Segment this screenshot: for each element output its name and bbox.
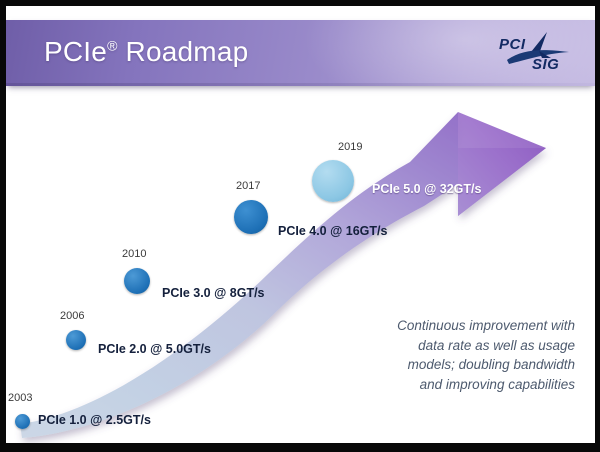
caption-line-2: data rate as well as usage: [330, 336, 575, 356]
milestone-label: PCIe 5.0 @ 32GT/s: [372, 182, 481, 196]
milestone-dot-icon: [15, 414, 30, 429]
page-title-main: PCIe: [44, 36, 107, 67]
milestone-label: PCIe 3.0 @ 8GT/s: [162, 286, 265, 300]
roadmap-caption: Continuous improvement with data rate as…: [330, 316, 575, 394]
caption-line-1: Continuous improvement with: [330, 316, 575, 336]
pci-sig-logo: PCI SIG: [495, 30, 577, 78]
milestone-year: 2010: [122, 248, 146, 260]
page-title-suffix: Roadmap: [118, 36, 249, 67]
caption-line-3: models; doubling bandwidth: [330, 355, 575, 375]
milestone-dot-icon: [66, 330, 86, 350]
milestone-year: 2006: [60, 310, 84, 322]
pci-sig-logo-bottom-text: SIG: [532, 56, 559, 73]
page-title: PCIe® Roadmap: [44, 36, 248, 68]
slide-frame: PCIe® Roadmap PCI SIG: [0, 0, 600, 452]
milestone-dot-icon: [312, 160, 354, 202]
milestone-label: PCIe 4.0 @ 16GT/s: [278, 224, 387, 238]
milestone-dot-icon: [234, 200, 268, 234]
slide-header: PCIe® Roadmap PCI SIG: [6, 20, 595, 86]
pci-sig-logo-top-text: PCI: [499, 36, 526, 53]
slide-canvas: PCIe® Roadmap PCI SIG: [6, 6, 595, 443]
milestone-dot-icon: [124, 268, 150, 294]
milestone-year: 2003: [8, 392, 32, 404]
milestone-year: 2017: [236, 180, 260, 192]
caption-line-4: and improving capabilities: [330, 375, 575, 395]
milestone-year: 2019: [338, 141, 362, 153]
registered-mark-icon: ®: [107, 38, 118, 54]
milestone-label: PCIe 2.0 @ 5.0GT/s: [98, 342, 211, 356]
milestone-label: PCIe 1.0 @ 2.5GT/s: [38, 413, 151, 427]
